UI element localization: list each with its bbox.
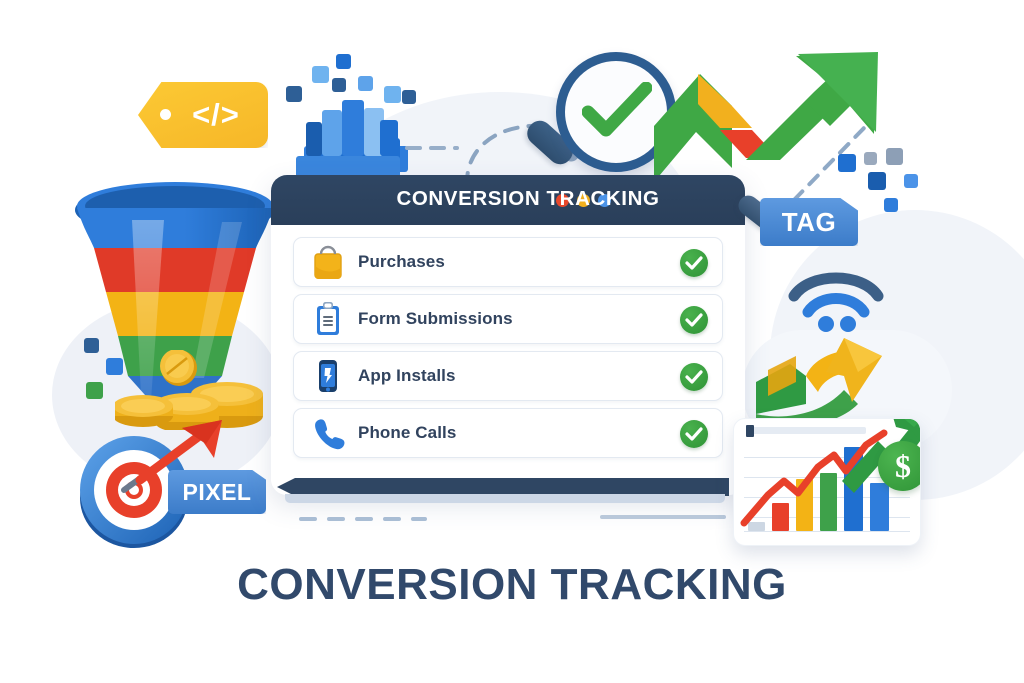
- status-badge-check: [680, 249, 708, 277]
- check-mark-icon: [582, 82, 652, 140]
- code-tag-label: </>: [172, 94, 260, 136]
- tag-badge-label: TAG: [760, 198, 858, 246]
- list-item-label: App Installs: [358, 366, 456, 386]
- solid-underline: [600, 515, 726, 519]
- card-body: Purchases: [271, 225, 745, 495]
- code-tag-badge: </>: [138, 82, 268, 148]
- page-title: CONVERSION TRACKING: [0, 560, 1024, 610]
- status-badge-check: [680, 363, 708, 391]
- list-item-purchases[interactable]: Purchases: [293, 237, 723, 287]
- conversion-tracking-card: CONVERSION TRACKING Purchases: [271, 175, 745, 495]
- scatter-squares-icon: [856, 152, 946, 222]
- dollar-symbol: $: [878, 441, 921, 491]
- pixel-badge-label: PIXEL: [168, 470, 266, 514]
- analytics-chart-card: $: [733, 418, 921, 546]
- list-item-label: Phone Calls: [358, 423, 456, 443]
- list-item-label: Form Submissions: [358, 309, 513, 329]
- list-item-label: Purchases: [358, 252, 445, 272]
- card-title: CONVERSION TRACKING: [271, 187, 745, 211]
- refresh-arrow-icon: [748, 330, 888, 426]
- card-header: CONVERSION TRACKING: [271, 175, 745, 225]
- pixel-badge: PIXEL: [168, 470, 266, 514]
- pixel-blocks-icon: [288, 48, 418, 158]
- list-item-app-installs[interactable]: App Installs: [293, 351, 723, 401]
- list-item-phone-calls[interactable]: Phone Calls: [293, 408, 723, 458]
- shopping-bag-icon: [308, 242, 348, 282]
- card-bottom-shadow: [285, 494, 725, 503]
- wifi-signal-icon: [788, 262, 884, 334]
- illustration-canvas: </>: [0, 0, 1024, 683]
- status-badge-check: [680, 420, 708, 448]
- telephone-icon: [308, 413, 348, 453]
- dashed-underline-icon: [298, 515, 428, 523]
- status-badge-check: [680, 306, 708, 334]
- mobile-phone-icon: [308, 356, 348, 396]
- list-item-form-submissions[interactable]: Form Submissions: [293, 294, 723, 344]
- tag-badge: TAG: [760, 198, 858, 246]
- code-tag-hole-icon: [160, 109, 171, 120]
- dollar-badge: $: [878, 441, 921, 491]
- clipboard-icon: [308, 299, 348, 339]
